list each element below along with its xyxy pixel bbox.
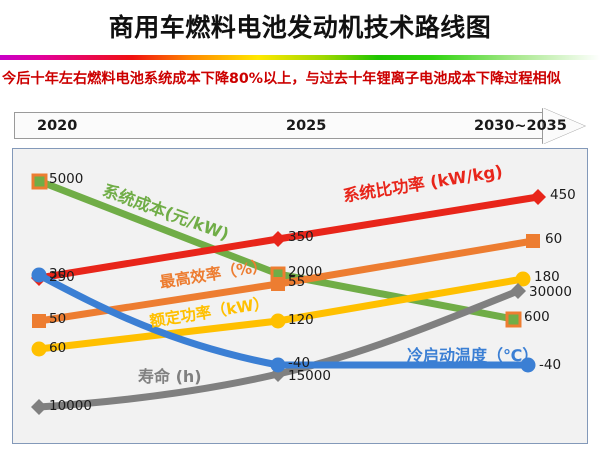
page-title-text: 商用车燃料电池发动机技术路线图 [109, 13, 492, 42]
roadmap-chart-panel: 5000 2000 600 250 350 450 50 55 60 60 12… [12, 148, 588, 444]
series-line-lifetime [31, 283, 526, 415]
subtitle-text: 今后十年左右燃料电池系统成本下降80%以上，与过去十年锂离子电池成本下降过程相似 [2, 68, 598, 88]
series-line-specific-power [31, 189, 546, 286]
timeline-body [14, 112, 544, 139]
rainbow-divider [0, 55, 600, 60]
timeline-year-2020: 2020 [37, 118, 77, 134]
roadmap-chart-svg [13, 149, 589, 445]
timeline-year-2025: 2025 [286, 118, 326, 134]
timeline-year-2030-2035: 2030~2035 [474, 118, 567, 134]
page-title: 商用车燃料电池发动机技术路线图 [0, 8, 600, 44]
series-line-system-cost [33, 175, 520, 326]
timeline-arrow: 2020 2025 2030~2035 [14, 108, 586, 144]
